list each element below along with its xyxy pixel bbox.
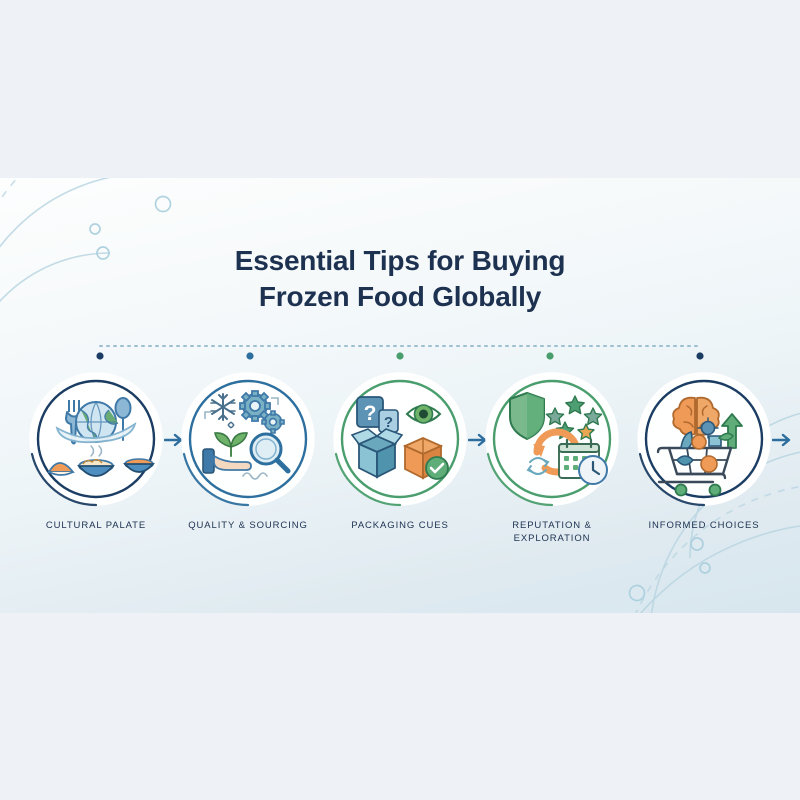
step-1-ring [21,364,171,514]
step-reputation-exploration[interactable]: REPUTATION & EXPLORATION [476,364,628,546]
step-4-ring [477,364,627,514]
step-5-label: INFORMED CHOICES [634,520,774,533]
step-4-label: REPUTATION & EXPLORATION [482,520,622,546]
step-3-label: PACKAGING CUES [330,520,470,533]
svg-text:?: ? [384,414,393,431]
step-quality-sourcing[interactable]: QUALITY & SOURCING [172,364,324,533]
infographic-band: Essential Tips for Buying Frozen Food Gl… [0,178,800,613]
step-2-label: QUALITY & SOURCING [178,520,318,533]
step-packaging-cues[interactable]: ? ? [324,364,476,533]
title-line-1: Essential Tips for Buying [235,245,566,276]
page-title: Essential Tips for Buying Frozen Food Gl… [0,243,800,315]
step-cultural-palate[interactable]: CULTURAL PALATE [20,364,172,533]
step-informed-choices[interactable]: INFORMED CHOICES [628,364,780,533]
infographic-canvas: Essential Tips for Buying Frozen Food Gl… [0,0,800,800]
step-3-ring: ? ? [325,364,475,514]
step-1-label: CULTURAL PALATE [26,520,166,533]
svg-text:?: ? [364,402,377,425]
step-2-ring [173,364,323,514]
title-line-2: Frozen Food Globally [0,279,800,315]
step-5-ring [629,364,779,514]
steps-row: CULTURAL PALATE [0,364,800,564]
